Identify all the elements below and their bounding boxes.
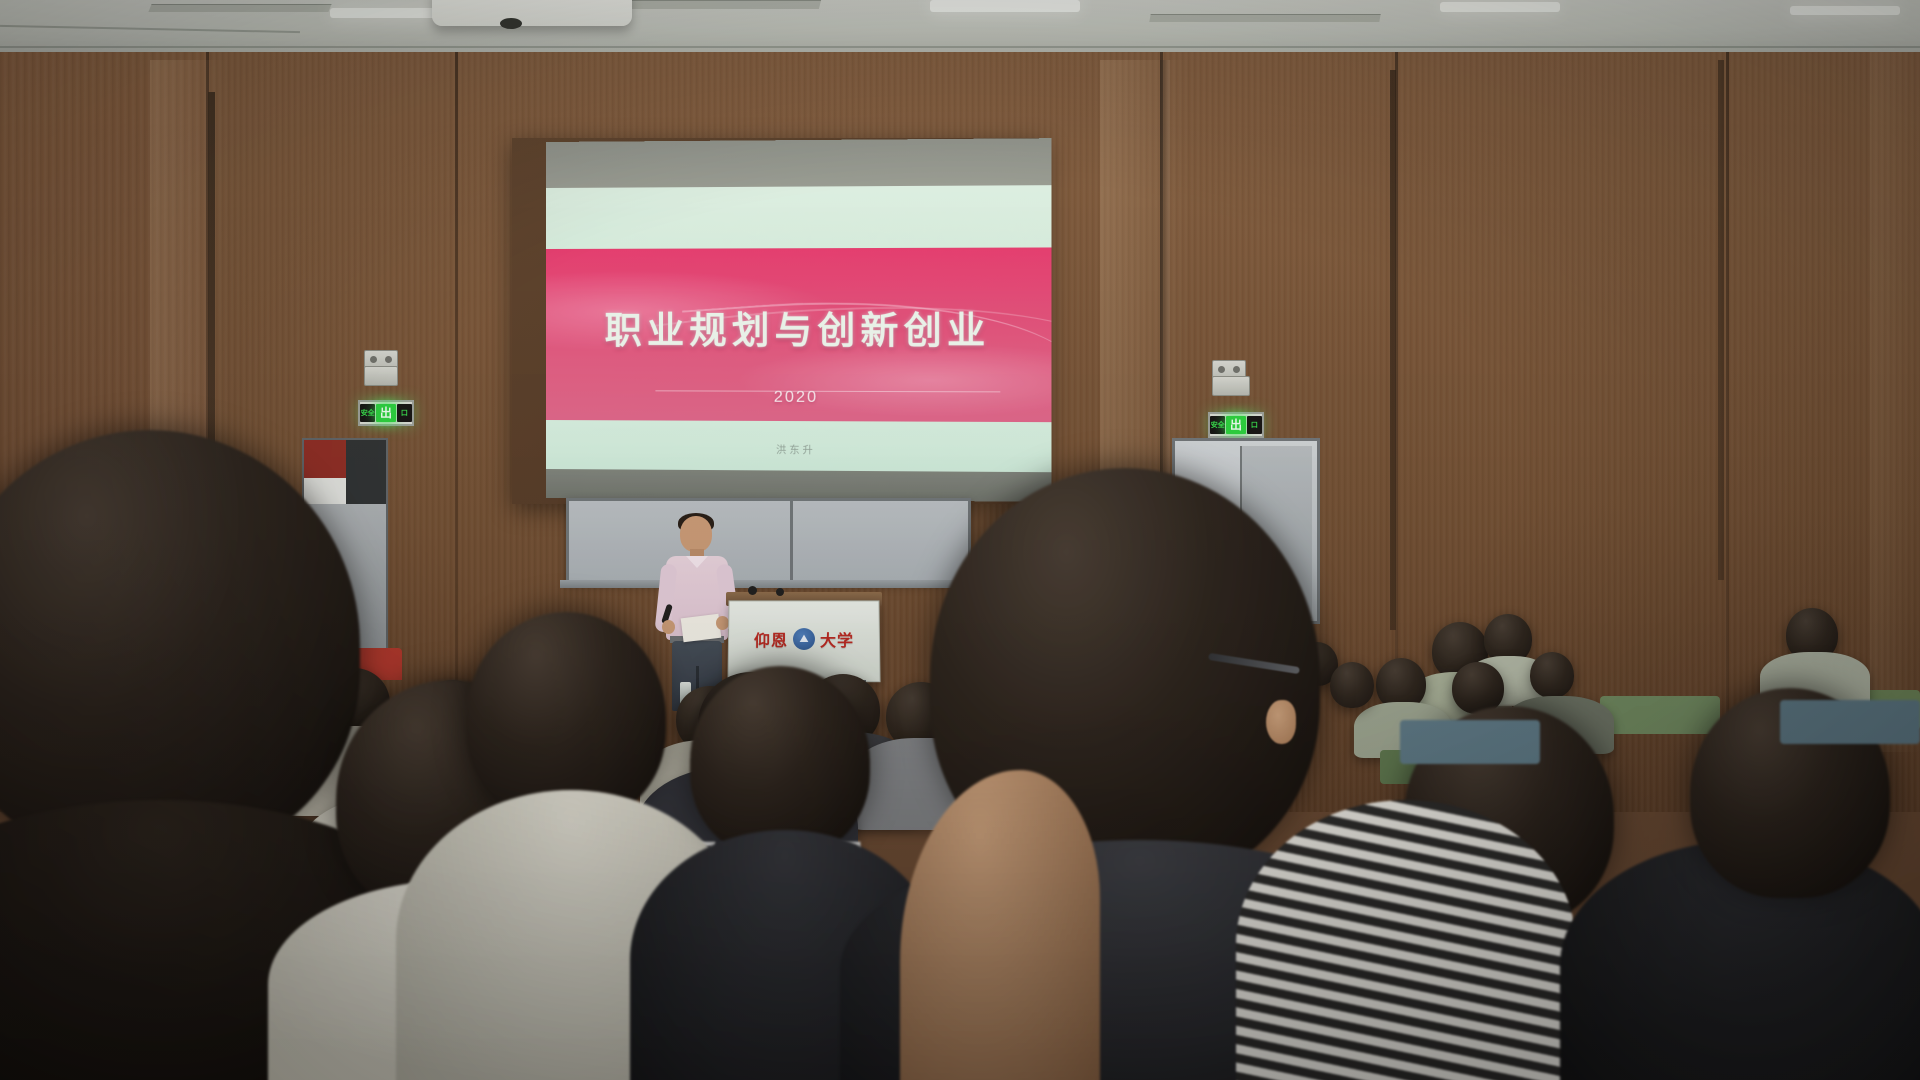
exit-sign-cell: 安全	[360, 404, 375, 422]
exit-sign-cell: 安全	[1210, 416, 1225, 434]
seat-back	[1780, 700, 1920, 744]
door-panel-dark	[346, 440, 386, 504]
whiteboard-tray	[560, 580, 980, 588]
projector-lens	[500, 18, 522, 29]
lecture-hall-photo: 安全 出 口 安全 出 口 职业规划与创新创业 2020 洪东升	[0, 0, 1920, 1080]
slide-band-bottom	[546, 469, 1051, 501]
microphone-icon-podium-2	[776, 588, 784, 596]
foreground-ear	[1266, 700, 1296, 744]
whiteboard	[566, 498, 971, 584]
seat-back	[1400, 720, 1540, 764]
slide-year: 2020	[546, 388, 1051, 408]
door-panel-white	[304, 478, 346, 504]
projector-icon	[432, 0, 632, 26]
slide-band-pink: 职业规划与创新创业 2020	[546, 247, 1051, 422]
door-panel-red	[304, 440, 346, 478]
exit-sign-left: 安全 出 口	[358, 400, 414, 426]
slide-presenter-name: 洪东升	[546, 440, 1051, 458]
presenter-head	[680, 516, 712, 552]
slide-title: 职业规划与创新创业	[546, 300, 1051, 355]
microphone-icon-podium	[748, 586, 757, 595]
whiteboard-divider	[790, 501, 793, 581]
slide-band-mint-upper	[546, 185, 1051, 248]
exit-sign-right: 安全 出 口	[1208, 412, 1264, 438]
alarm-box-icon-2	[364, 366, 398, 386]
striped-shirt	[1236, 800, 1576, 1080]
slide-band-mint-lower: 洪东升	[546, 420, 1051, 473]
exit-sign-cell: 出	[376, 404, 395, 422]
projection-screen: 职业规划与创新创业 2020 洪东升	[546, 138, 1051, 502]
presentation-slide: 职业规划与创新创业 2020 洪东升	[546, 138, 1051, 502]
slide-band-top	[546, 138, 1051, 188]
exit-sign-cell: 口	[1247, 416, 1262, 434]
exit-sign-cell: 口	[397, 404, 412, 422]
alarm-box-icon-right-2	[1212, 376, 1250, 396]
exit-sign-cell: 出	[1226, 416, 1245, 434]
